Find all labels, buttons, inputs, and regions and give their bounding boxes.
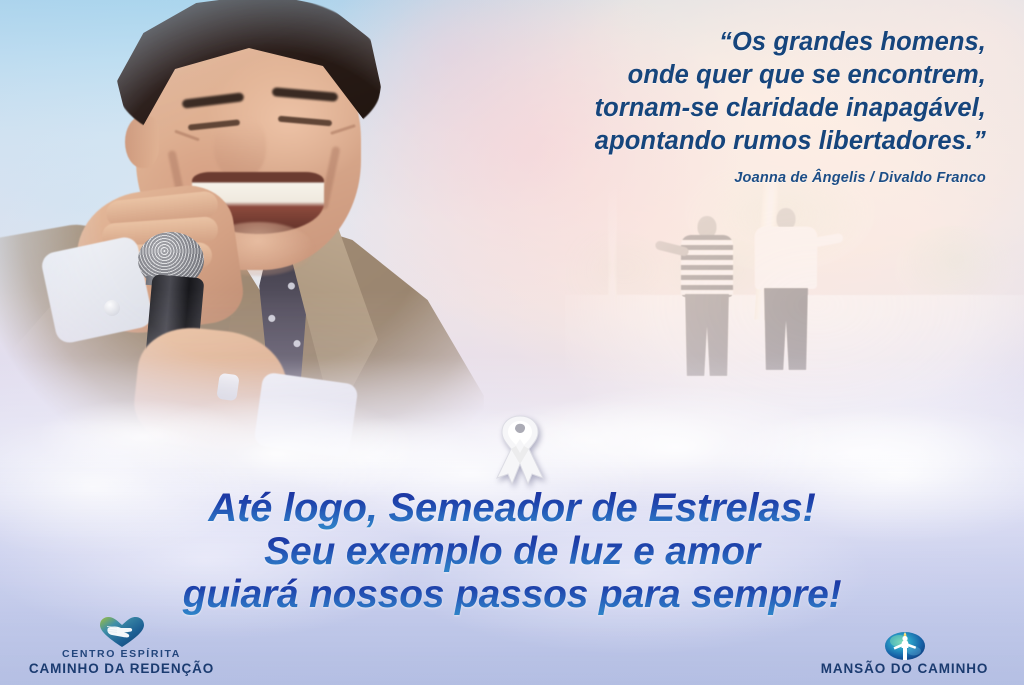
scene-bush-left bbox=[549, 230, 669, 308]
scene-palm-right bbox=[895, 226, 1015, 312]
portrait-shirt-cuff-lower bbox=[253, 372, 358, 459]
portrait-finger-ring bbox=[216, 373, 239, 402]
logo-mansao-do-caminho[interactable]: MANSÃO DO CAMINHO bbox=[797, 629, 1012, 677]
memorial-poster: “Os grandes homens, onde quer que se enc… bbox=[0, 0, 1024, 685]
scene-person-striped bbox=[677, 216, 737, 378]
logo-centro-espirita[interactable]: CENTRO ESPÍRITA CAMINHO DA REDENÇÃO bbox=[14, 616, 229, 677]
logo-left-line-2: CAMINHO DA REDENÇÃO bbox=[14, 661, 229, 677]
heart-hand-icon bbox=[14, 616, 229, 648]
logo-right-line-2: MANSÃO DO CAMINHO bbox=[797, 661, 1012, 677]
quote-line-2: onde quer que se encontrem, bbox=[416, 59, 986, 92]
globe-flame-figure-icon bbox=[797, 629, 1012, 661]
portrait-nose bbox=[214, 118, 266, 180]
quote-line-1: “Os grandes homens, bbox=[416, 26, 986, 59]
quote-attribution: Joanna de Ângelis / Divaldo Franco bbox=[416, 170, 986, 186]
quote-line-4: apontando rumos libertadores.” bbox=[416, 125, 986, 158]
logo-left-line-1: CENTRO ESPÍRITA bbox=[14, 648, 229, 661]
scene-person-torso bbox=[681, 235, 733, 297]
quote-text: “Os grandes homens, onde quer que se enc… bbox=[416, 26, 986, 158]
scene-person-legs bbox=[764, 288, 808, 370]
scene-person-legs bbox=[685, 294, 729, 376]
background-scene-photo bbox=[565, 170, 1024, 470]
scene-person-white-shirt bbox=[753, 208, 819, 380]
headline-text: Até logo, Semeador de Estrelas! Seu exem… bbox=[0, 487, 1024, 616]
headline-line-1: Até logo, Semeador de Estrelas! bbox=[0, 487, 1024, 530]
headline-line-2: Seu exemplo de luz e amor bbox=[0, 530, 1024, 573]
headline-line-3: guiará nossos passos para sempre! bbox=[0, 573, 1024, 616]
scene-person-torso bbox=[755, 227, 817, 289]
portrait-cuff-button bbox=[104, 300, 120, 316]
quote-line-3: tornam-se claridade inapagável, bbox=[416, 92, 986, 125]
white-ribbon-icon bbox=[489, 412, 551, 488]
